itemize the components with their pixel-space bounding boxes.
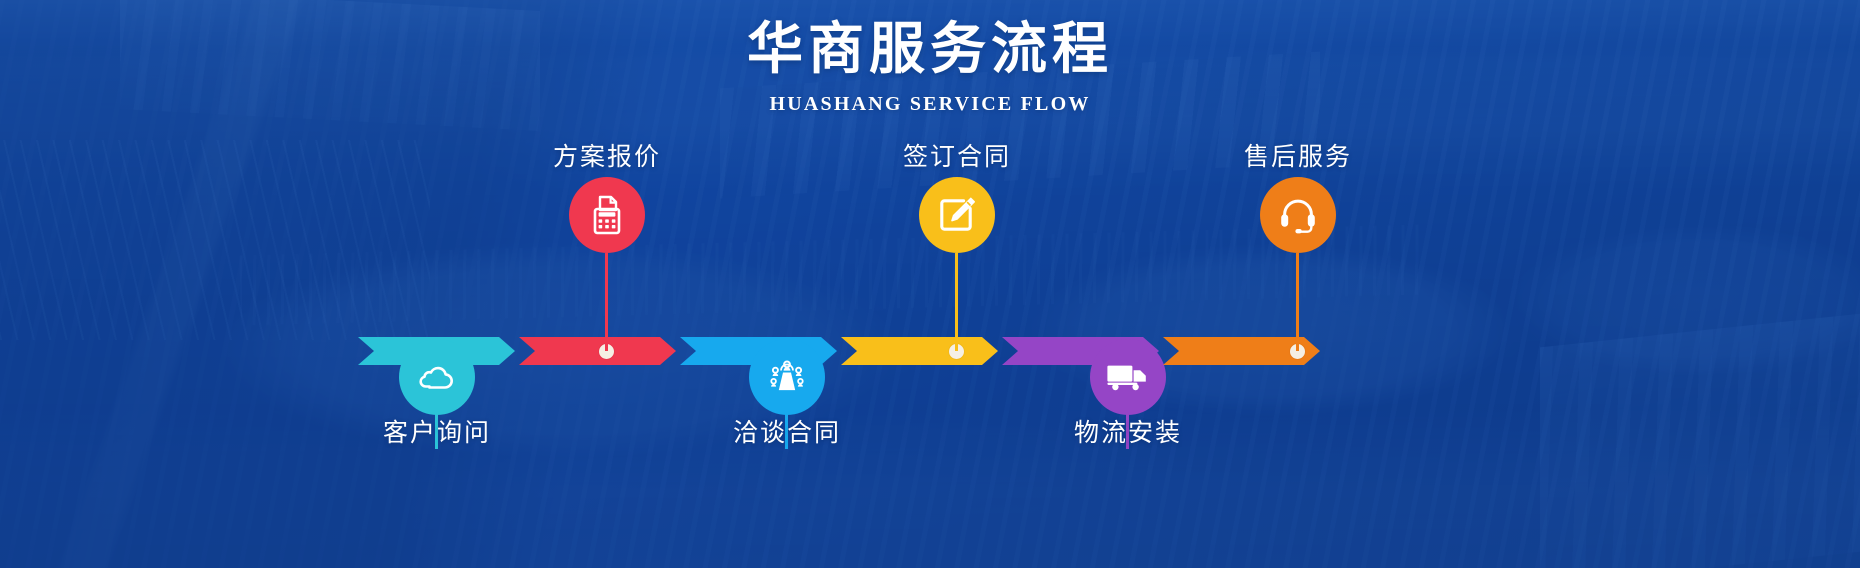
page-subtitle: HUASHANG SERVICE FLOW — [0, 92, 1860, 116]
flow-arrow-segment[interactable] — [519, 337, 676, 365]
cloud-icon — [417, 357, 457, 397]
flow-connector-line — [605, 253, 608, 351]
truck-icon — [1105, 360, 1151, 394]
flow-arrow-segment[interactable] — [841, 337, 998, 365]
flow-step-icon-bubble[interactable] — [399, 339, 475, 415]
flow-connector-line — [955, 253, 958, 351]
flow-step-icon-bubble[interactable] — [1260, 177, 1336, 253]
pen-edit-icon — [936, 194, 978, 236]
flow-step-icon-bubble[interactable] — [569, 177, 645, 253]
flow-step-label: 方案报价 — [497, 142, 717, 172]
calculator-icon — [587, 194, 627, 236]
flow-step-label: 客户询问 — [327, 418, 547, 448]
flow-connector-line — [1296, 253, 1299, 351]
flow-step-label: 售后服务 — [1188, 142, 1408, 172]
flow-step-icon-bubble[interactable] — [749, 339, 825, 415]
service-flow-banner: 华商服务流程 HUASHANG SERVICE FLOW 客户询问方案报价洽谈合… — [0, 0, 1860, 568]
flow-step-label: 洽谈合同 — [677, 418, 897, 448]
headset-icon — [1277, 194, 1319, 236]
flow-step-label: 物流安装 — [1018, 418, 1238, 448]
negotiation-table-icon — [765, 357, 809, 397]
flow-step-icon-bubble[interactable] — [1090, 339, 1166, 415]
flow-step-icon-bubble[interactable] — [919, 177, 995, 253]
flow-step-label: 签订合同 — [847, 142, 1067, 172]
banner-header: 华商服务流程 HUASHANG SERVICE FLOW — [0, 18, 1860, 116]
page-title: 华商服务流程 — [0, 18, 1860, 82]
